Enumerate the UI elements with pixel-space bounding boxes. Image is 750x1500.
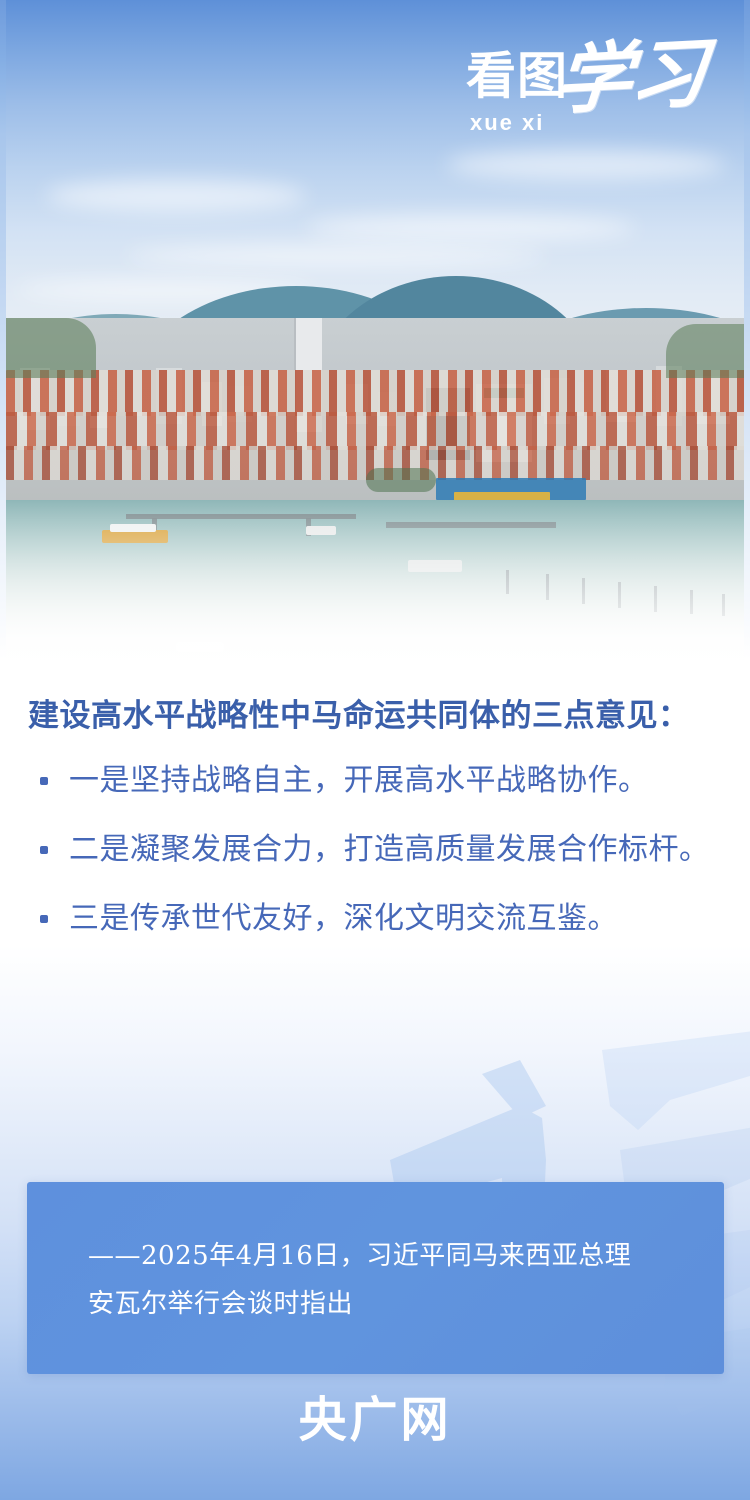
list-item-label: 二是凝聚发展合力，打造高质量发展合作标杆。 (69, 829, 710, 871)
list-item: 一是坚持战略自主，开展高水平战略协作。 (28, 760, 722, 802)
attribution-box: ——2025年4月16日，习近平同马来西亚总理 安瓦尔举行会谈时指出 (27, 1182, 724, 1374)
attribution-line-1: ——2025年4月16日，习近平同马来西亚总理 (88, 1232, 684, 1280)
roof-cluster (6, 370, 744, 416)
photo-bottom-fade (6, 500, 744, 690)
city-skyline (6, 318, 744, 518)
attribution-text: ——2025年4月16日，习近平同马来西亚总理 安瓦尔举行会谈时指出 (88, 1232, 684, 1328)
list-item-label: 一是坚持战略自主，开展高水平战略协作。 (69, 760, 649, 802)
tree-mass (666, 324, 744, 378)
roof-cluster (6, 412, 744, 450)
bullet-dot-icon (40, 777, 48, 785)
main-content: 建设高水平战略性中马命运共同体的三点意见： 一是坚持战略自主，开展高水平战略协作… (0, 694, 750, 967)
bullet-dot-icon (40, 846, 48, 854)
points-list: 一是坚持战略自主，开展高水平战略协作。 二是凝聚发展合力，打造高质量发展合作标杆… (28, 760, 722, 940)
cloud-shape (306, 215, 636, 241)
publisher-logo: 央广网 (298, 1392, 451, 1448)
list-item: 三是传承世代友好，深化文明交流互鉴。 (28, 898, 722, 940)
page-title: 建设高水平战略性中马命运共同体的三点意见： (28, 694, 722, 738)
list-item-label: 三是传承世代友好，深化文明交流互鉴。 (69, 898, 618, 940)
tree-mass (366, 468, 436, 492)
poster-root: 看图 学习 xue xi 建设高水平战略性中马命运共同体的三点意见： 一是坚持战… (0, 0, 750, 1500)
list-item: 二是凝聚发展合力，打造高质量发展合作标杆。 (28, 829, 722, 871)
brand-logo-kantu: 看图 (466, 48, 568, 104)
attribution-line-2: 安瓦尔举行会谈时指出 (88, 1280, 684, 1328)
brand-logo-script: 学习 (552, 30, 708, 124)
cloud-shape (46, 180, 306, 212)
footer: 央广网 (0, 1392, 750, 1448)
bullet-dot-icon (40, 915, 48, 923)
cloud-shape (126, 245, 546, 267)
brand-logo-main: 看图 学习 (444, 48, 704, 112)
tree-mass (6, 318, 96, 378)
brand-logo-pinyin: xue xi (470, 110, 544, 136)
brand-logo: 看图 学习 xue xi (444, 48, 704, 158)
